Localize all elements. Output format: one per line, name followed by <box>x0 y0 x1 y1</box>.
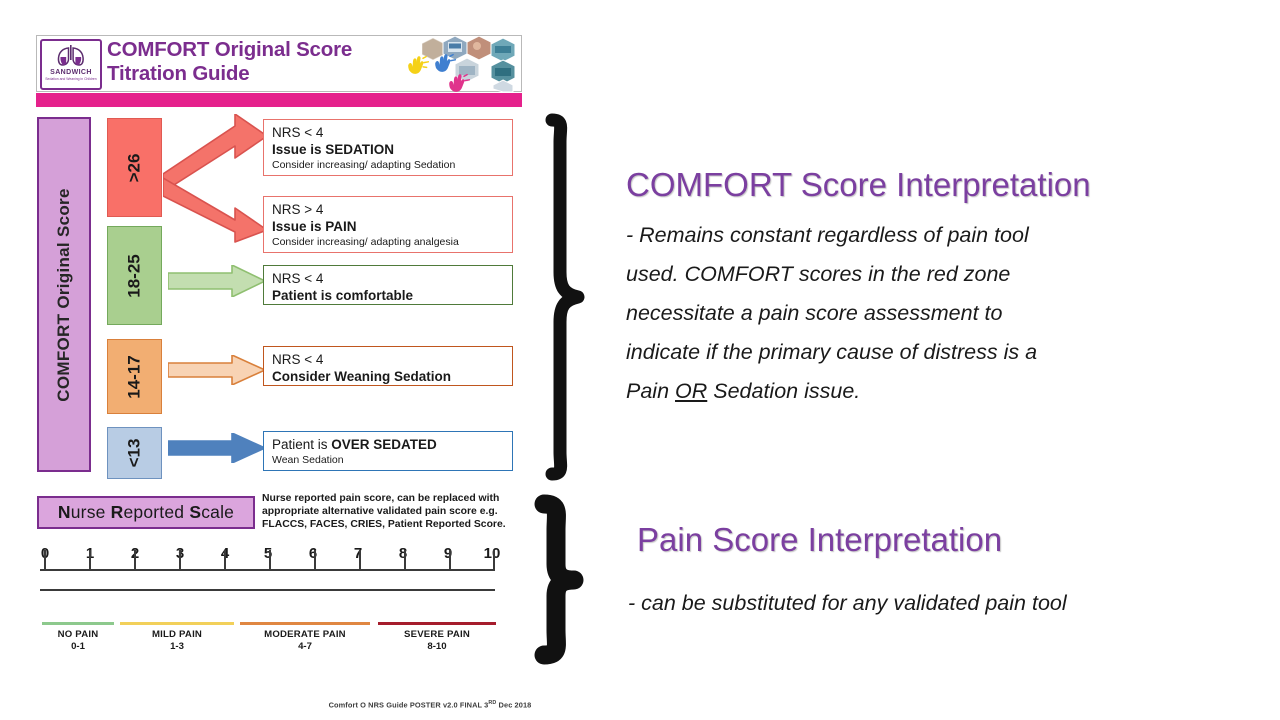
result-line-issue: Consider Weaning Sedation <box>272 368 505 385</box>
severity-name: SEVERE PAIN <box>378 629 496 641</box>
arrow-orange <box>168 355 266 385</box>
ruler-axis-line <box>40 569 495 571</box>
ruler-tick <box>314 550 316 570</box>
pain-severity-item: NO PAIN 0-1 <box>42 622 114 653</box>
score-band-label: <13 <box>125 439 145 468</box>
pain-interpretation-body: - can be substituted for any validated p… <box>628 588 1248 618</box>
severity-color-bar <box>378 622 496 625</box>
sandwich-logo: SANDWICH Sedation and Weaning in Childre… <box>40 39 102 90</box>
handprint-yellow <box>408 56 429 74</box>
result-line-nrs: NRS < 4 <box>272 270 505 287</box>
pain-severity-legend: NO PAIN 0-1 MILD PAIN 1-3 MODERATE PAIN … <box>38 622 508 662</box>
comfort-body-line-5: Pain OR Sedation issue. <box>626 372 1226 411</box>
ruler-tick <box>44 550 46 570</box>
ruler-tick <box>134 550 136 570</box>
result-line-issue-bold: OVER SEDATED <box>331 437 437 452</box>
ruler-tick <box>449 550 451 570</box>
arrow-red-up <box>163 114 267 192</box>
comfort-body-line-2: used. COMFORT scores in the red zone <box>626 255 1226 294</box>
header-photo-collage <box>403 36 521 92</box>
ruler-tick <box>269 550 271 570</box>
poster-title-line-1: COMFORT Original Score <box>107 38 352 61</box>
ruler-tick <box>179 550 181 570</box>
poster-title: COMFORT Original Score Titration Guide <box>107 38 407 86</box>
severity-name: NO PAIN <box>42 629 114 641</box>
comfort-body-line-5-or: OR <box>675 379 707 403</box>
result-line-issue: Issue is SEDATION <box>272 141 505 158</box>
nurse-reported-scale-label: Nurse Reported Scale <box>58 502 234 523</box>
severity-range: 1-3 <box>120 641 234 653</box>
ruler-number: 9 <box>444 545 452 562</box>
score-band-label: 18-25 <box>124 254 144 297</box>
poster-header-banner: SANDWICH Sedation and Weaning in Childre… <box>36 35 522 92</box>
severity-color-bar <box>42 622 114 625</box>
brace-pain-section <box>524 492 604 667</box>
result-box-comfortable[interactable]: NRS < 4 Patient is comfortable <box>263 265 513 305</box>
comfort-score-sidebar-label: COMFORT Original Score <box>54 188 74 401</box>
ruler-number: 5 <box>264 545 272 562</box>
result-line-action: Wean Sedation <box>272 453 505 467</box>
score-band-above-26[interactable]: >26 <box>107 118 162 217</box>
result-line-issue: Patient is OVER SEDATED <box>272 436 505 453</box>
ruler-number: 7 <box>354 545 362 562</box>
comfort-body-line-4: indicate if the primary cause of distres… <box>626 333 1226 372</box>
arrow-red-down <box>163 178 267 242</box>
poster-title-line-2: Titration Guide <box>107 62 407 86</box>
header-accent-bar <box>36 93 522 107</box>
severity-name: MODERATE PAIN <box>240 629 370 641</box>
nrs-initial-n: N <box>58 502 71 522</box>
score-band-14-17[interactable]: 14-17 <box>107 339 162 414</box>
pain-severity-item: MILD PAIN 1-3 <box>120 622 234 653</box>
ruler-number: 10 <box>484 545 501 562</box>
score-band-label: >26 <box>125 153 145 182</box>
nrs-initial-s: S <box>189 502 201 522</box>
comfort-body-line-3: necessitate a pain score assessment to <box>626 294 1226 333</box>
ruler-tick <box>89 550 91 570</box>
result-line-action: Consider increasing/ adapting Sedation <box>272 158 505 172</box>
result-line-nrs: NRS < 4 <box>272 351 505 368</box>
severity-name: MILD PAIN <box>120 629 234 641</box>
severity-range: 8-10 <box>378 641 496 653</box>
nrs-word-nurse: urse <box>71 502 106 522</box>
ruler-number: 6 <box>309 545 317 562</box>
nrs-word-reported: eported <box>123 502 184 522</box>
comfort-score-sidebar: COMFORT Original Score <box>37 117 91 472</box>
nrs-initial-r: R <box>111 502 124 522</box>
severity-range: 0-1 <box>42 641 114 653</box>
result-box-weaning[interactable]: NRS < 4 Consider Weaning Sedation <box>263 346 513 386</box>
result-box-sedation[interactable]: NRS < 4 Issue is SEDATION Consider incre… <box>263 119 513 176</box>
result-line-nrs: NRS > 4 <box>272 201 505 218</box>
severity-color-bar <box>120 622 234 625</box>
pain-severity-item: MODERATE PAIN 4-7 <box>240 622 370 653</box>
footer-version-note: Comfort O NRS Guide POSTER v2.0 FINAL 3R… <box>0 700 860 709</box>
ruler-tick <box>224 550 226 570</box>
score-band-18-25[interactable]: 18-25 <box>107 226 162 325</box>
ruler-number: 8 <box>399 545 407 562</box>
footer-text-pre: Comfort O NRS Guide POSTER v2.0 FINAL 3 <box>329 700 489 709</box>
result-box-over-sedated[interactable]: Patient is OVER SEDATED Wean Sedation <box>263 431 513 471</box>
result-line-issue: Patient is comfortable <box>272 287 505 304</box>
nurse-reported-scale-note: Nurse reported pain score, can be replac… <box>262 492 527 532</box>
brace-comfort-section <box>534 112 604 482</box>
comfort-interpretation-body: - Remains constant regardless of pain to… <box>626 216 1226 411</box>
arrow-blue <box>168 433 266 463</box>
arrow-group-red <box>163 114 268 244</box>
ruler-tick <box>493 550 495 570</box>
pain-ruler: 0 1 2 3 4 5 6 7 8 9 10 <box>40 545 500 600</box>
result-box-pain[interactable]: NRS > 4 Issue is PAIN Consider increasin… <box>263 196 513 253</box>
lungs-icon <box>54 43 88 69</box>
comfort-body-line-5-pre: Pain <box>626 379 675 403</box>
result-line-action: Consider increasing/ adapting analgesia <box>272 235 505 249</box>
ruler-base-line <box>40 589 495 591</box>
score-band-below-13[interactable]: <13 <box>107 427 162 479</box>
footer-text-post: Dec 2018 <box>496 700 531 709</box>
score-band-label: 14-17 <box>124 355 144 398</box>
pain-interpretation-heading: Pain Score Interpretation <box>637 521 1002 559</box>
result-line-nrs: NRS < 4 <box>272 124 505 141</box>
comfort-body-line-1: - Remains constant regardless of pain to… <box>626 216 1226 255</box>
severity-range: 4-7 <box>240 641 370 653</box>
nrs-word-scale: cale <box>201 502 234 522</box>
result-line-issue-plain: Patient is <box>272 437 331 452</box>
ruler-tick <box>359 550 361 570</box>
severity-color-bar <box>240 622 370 625</box>
comfort-interpretation-heading: COMFORT Score Interpretation <box>626 166 1091 204</box>
arrow-green <box>168 265 266 297</box>
ruler-tick <box>404 550 406 570</box>
nurse-reported-scale-badge[interactable]: Nurse Reported Scale <box>37 496 255 529</box>
comfort-body-line-5-post: Sedation issue. <box>707 379 860 403</box>
logo-tagline: Sedation and Weaning in Children <box>45 77 96 82</box>
logo-wordmark: SANDWICH <box>50 69 92 77</box>
result-line-issue: Issue is PAIN <box>272 218 505 235</box>
pain-severity-item: SEVERE PAIN 8-10 <box>378 622 496 653</box>
